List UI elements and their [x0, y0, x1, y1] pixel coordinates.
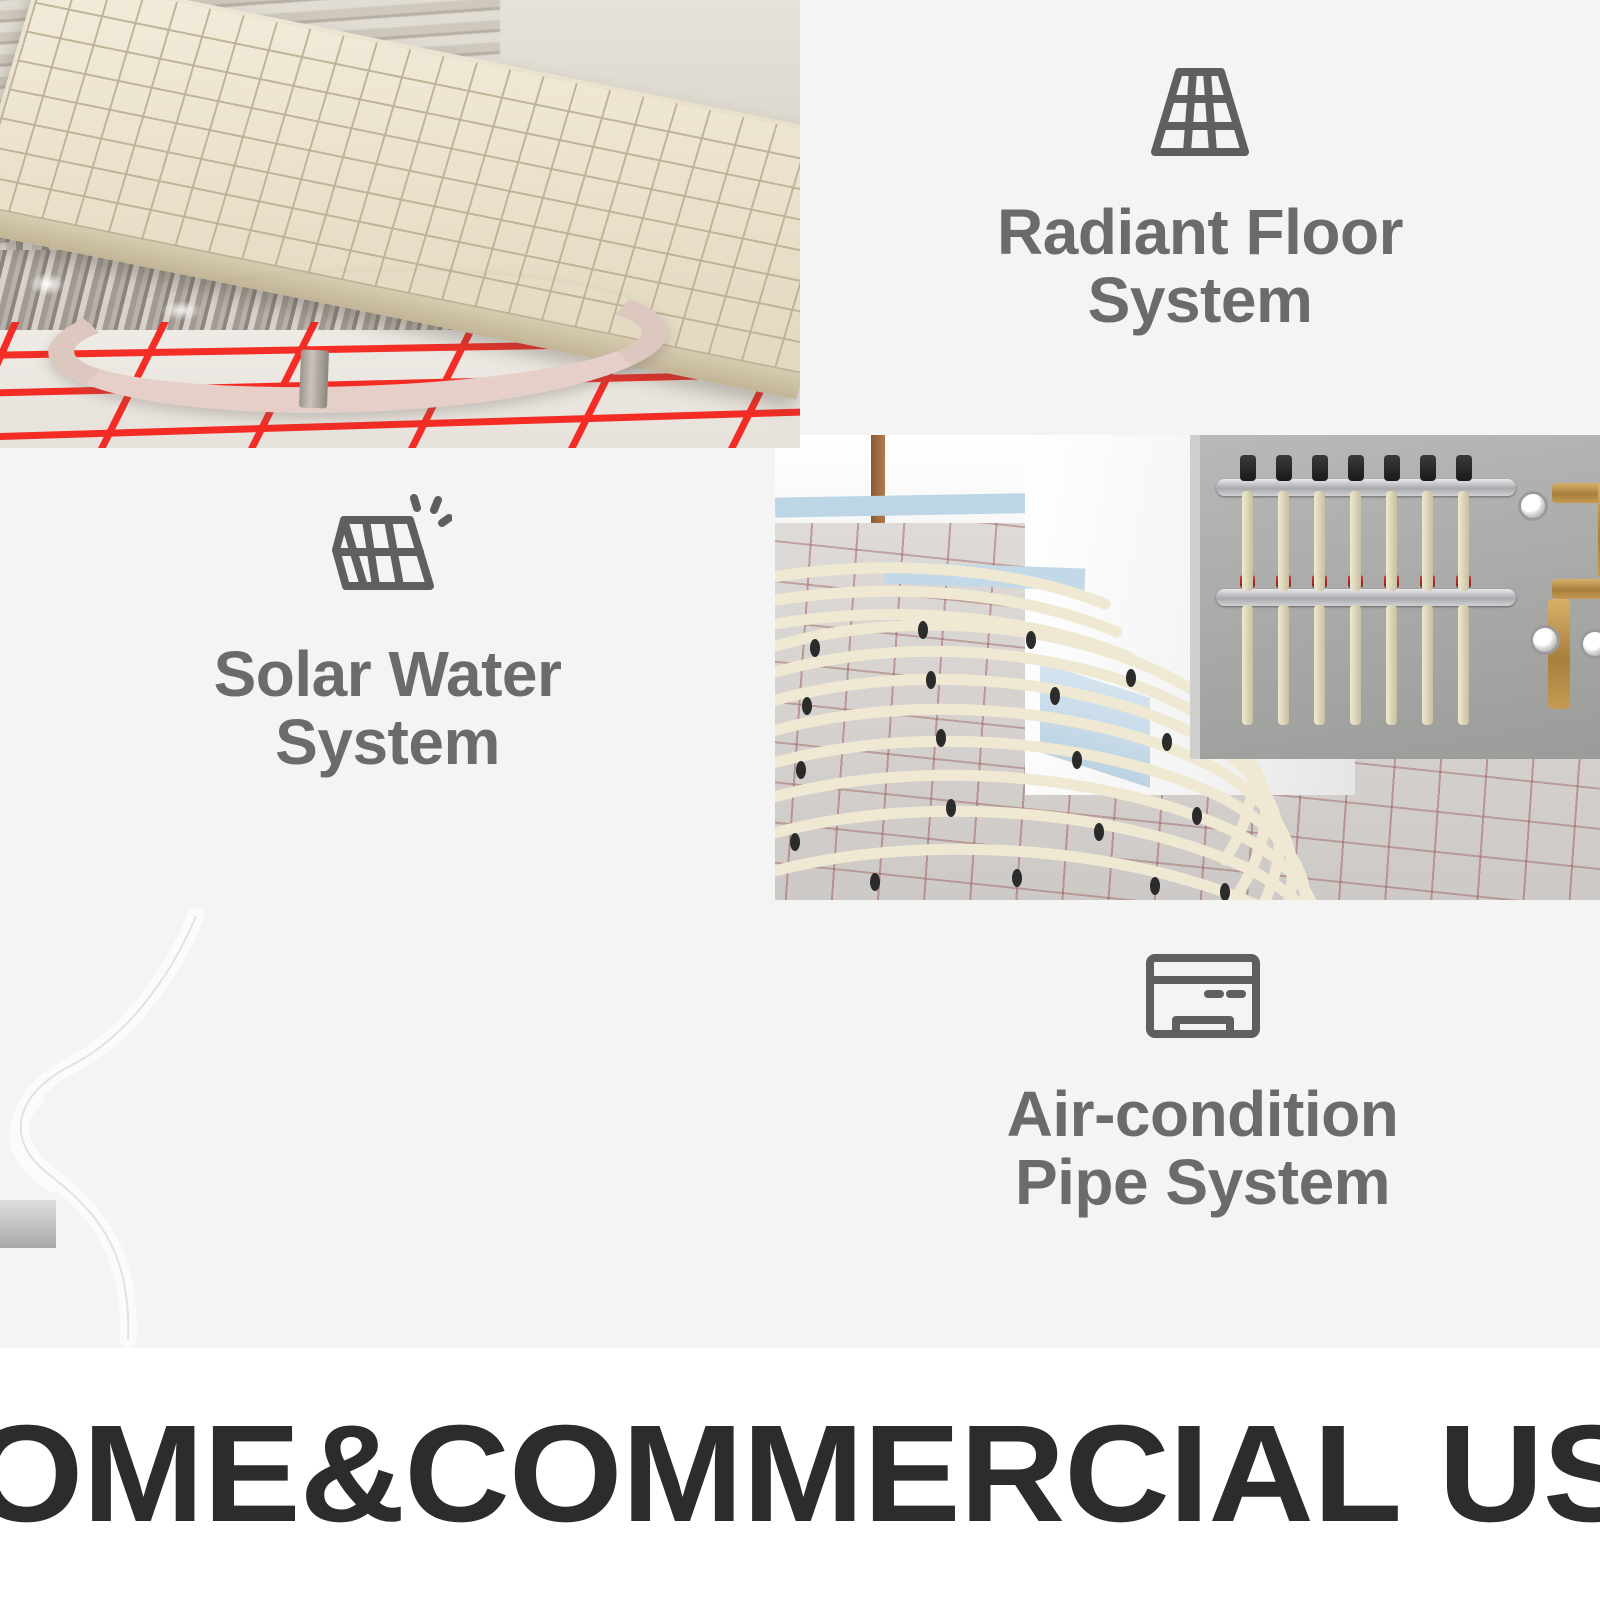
uf-pressure-gauge — [1530, 625, 1560, 655]
uf-manifold-bar-lower — [1216, 589, 1516, 606]
feature-title: Solar Water System — [68, 641, 708, 777]
uf-return-pipe — [1422, 605, 1433, 725]
feature-radiant-floor: Radiant Floor System — [800, 60, 1600, 335]
feature-title: Air-condition Pipe System — [853, 1081, 1553, 1217]
uf-actuator-knob — [1312, 455, 1328, 481]
uf-actuator-knob — [1276, 455, 1292, 481]
banner-headline: HOME&COMMERCIAL USE — [0, 1405, 1600, 1543]
uf-riser-pipe — [1458, 491, 1469, 591]
uf-riser-pipe — [1278, 491, 1289, 591]
uf-return-pipe — [1386, 605, 1397, 725]
uf-manifold-bar-upper — [1216, 479, 1516, 496]
uf-return-pipe — [1278, 605, 1289, 725]
air-conditioner-icon — [1142, 950, 1264, 1047]
uf-actuator-knob — [1348, 455, 1364, 481]
radiant-floor-grid-icon — [1141, 60, 1259, 173]
underfloor-photo — [775, 435, 1600, 900]
uf-manifold-cabinet — [1190, 435, 1600, 759]
bottom-banner: HOME&COMMERCIAL USE — [0, 1348, 1600, 1600]
uf-red-block — [1500, 673, 1544, 759]
uf-actuator-knob — [1456, 455, 1472, 481]
plumbing-photo — [0, 878, 805, 1348]
feature-title: Radiant Floor System — [880, 199, 1520, 335]
uf-riser-pipe — [1242, 491, 1253, 591]
uf-actuator-knob — [1240, 455, 1256, 481]
feature-solar-water: Solar Water System — [0, 492, 775, 777]
uf-pressure-gauge — [1518, 491, 1548, 521]
uf-riser-pipe — [1386, 491, 1397, 591]
uf-red-block — [1560, 675, 1600, 761]
uf-return-pipe — [1350, 605, 1361, 725]
feature-air-condition: Air-condition Pipe System — [805, 950, 1600, 1217]
uf-pressure-gauge — [1580, 629, 1600, 659]
uf-return-pipe — [1458, 605, 1469, 725]
uf-return-pipe — [1242, 605, 1253, 725]
uf-actuator-knob — [1420, 455, 1436, 481]
pl-loose-white-hose — [0, 888, 320, 1348]
uf-actuator-knob — [1384, 455, 1400, 481]
uf-return-pipe — [1314, 605, 1325, 725]
solar-panel-icon — [324, 492, 452, 609]
uf-riser-pipe — [1350, 491, 1361, 591]
radiant-floor-photo — [0, 0, 800, 448]
uf-riser-pipe — [1314, 491, 1325, 591]
product-infographic: Radiant Floor System Solar Water System — [0, 0, 1600, 1600]
uf-brass-elbow — [1552, 483, 1600, 503]
uf-riser-pipe — [1422, 491, 1433, 591]
rf-pipe-clip — [299, 350, 329, 409]
uf-brass-tee — [1552, 579, 1600, 599]
